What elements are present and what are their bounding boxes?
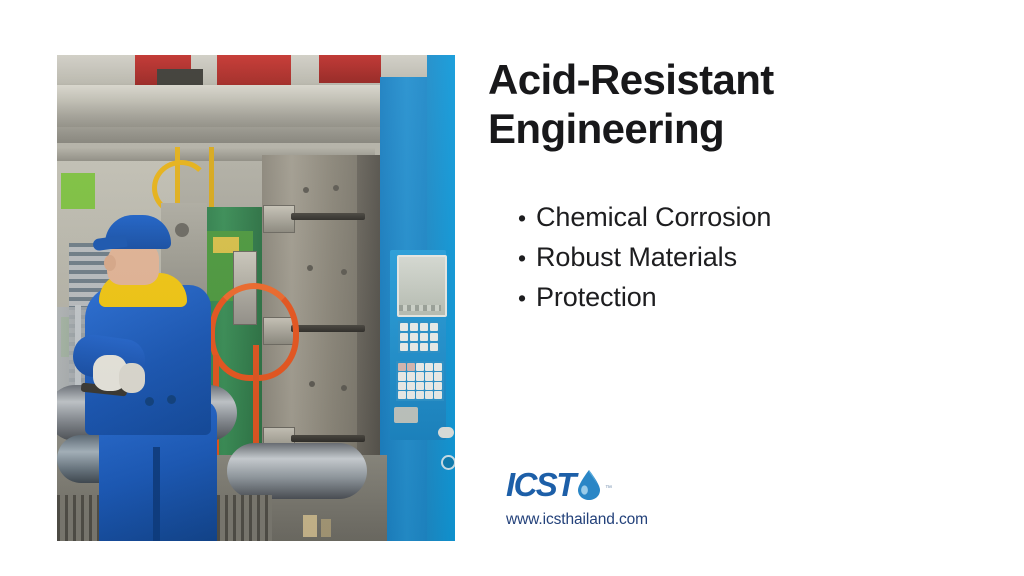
content-column: Acid-Resistant Engineering • Chemical Co… [488, 55, 988, 541]
bullet-dot-icon: • [518, 247, 536, 270]
keypad-key [398, 372, 406, 380]
keypad-key [410, 333, 418, 341]
keypad-key [407, 382, 415, 390]
worker-leg-seam [153, 447, 160, 541]
keypad-key [407, 391, 415, 399]
keypad-key [400, 333, 408, 341]
water-droplet-icon [576, 469, 602, 501]
keypad-key [430, 323, 438, 331]
tie-bar [291, 213, 365, 220]
tie-bar [291, 325, 365, 332]
keypad-key [425, 372, 433, 380]
keypad-key [425, 363, 433, 371]
keypad-key [416, 363, 424, 371]
floor-debris [321, 519, 331, 537]
keypad-key [416, 372, 424, 380]
brand-logo-block[interactable]: ICST ™ www.icsthailand.com [506, 465, 726, 529]
page-title: Acid-Resistant Engineering [488, 55, 848, 153]
logo-mark: ICST ™ [506, 465, 624, 505]
indicator-light [441, 455, 455, 470]
control-dial [175, 223, 189, 237]
keypad-key [425, 382, 433, 390]
overall-button [145, 397, 154, 406]
red-ceiling-panel [319, 55, 381, 83]
trademark-icon: ™ [605, 485, 612, 492]
keypad-key [420, 343, 428, 351]
list-item-label: Robust Materials [536, 237, 737, 277]
keypad-key [410, 323, 418, 331]
hmi-keypad-upper [398, 321, 440, 353]
title-line-1: Acid-Resistant [488, 55, 848, 104]
keypad-key [434, 382, 442, 390]
worker-glove [119, 363, 145, 393]
hmi-keypad-lower [396, 361, 444, 401]
floor-debris [303, 515, 317, 537]
overall-button [167, 395, 176, 404]
bullet-dot-icon: • [518, 287, 536, 310]
machine-badge [394, 407, 418, 423]
list-item-label: Protection [536, 277, 657, 317]
keypad-key [400, 323, 408, 331]
keypad-key [398, 363, 406, 371]
keypad-key [398, 382, 406, 390]
hmi-softkey-strip [399, 305, 441, 311]
keypad-key [420, 333, 428, 341]
bolt-hole [333, 185, 339, 191]
keypad-key [407, 372, 415, 380]
keypad-key [420, 323, 428, 331]
logo-wordmark: ICST [506, 465, 575, 505]
green-equipment-box [61, 173, 95, 209]
title-line-2: Engineering [488, 104, 848, 153]
keypad-key [425, 391, 433, 399]
bolt-hole [341, 269, 347, 275]
keypad-key [434, 391, 442, 399]
bolt-hole [307, 265, 313, 271]
keypad-key [407, 363, 415, 371]
keypad-key [416, 391, 424, 399]
list-item: • Robust Materials [518, 237, 771, 277]
steel-roller [227, 443, 367, 499]
worker-ear [104, 255, 116, 271]
slide-canvas: Acid-Resistant Engineering • Chemical Co… [0, 0, 1024, 576]
bolt-hole [341, 385, 347, 391]
keypad-key [400, 343, 408, 351]
keypad-key [398, 391, 406, 399]
red-ceiling-panel [217, 55, 291, 89]
list-item-label: Chemical Corrosion [536, 197, 771, 237]
bullet-dot-icon: • [518, 207, 536, 230]
keypad-key [434, 363, 442, 371]
machinery-photo [57, 55, 455, 541]
bolt-hole [303, 187, 309, 193]
list-item: • Chemical Corrosion [518, 197, 771, 237]
keypad-key [434, 372, 442, 380]
photo-scene [57, 55, 455, 541]
keypad-key [416, 382, 424, 390]
tie-bar [291, 435, 365, 442]
panel-handle [438, 427, 454, 438]
feature-bullet-list: • Chemical Corrosion • Robust Materials … [518, 197, 771, 318]
bolt-hole [309, 381, 315, 387]
list-item: • Protection [518, 277, 771, 317]
keypad-key [430, 333, 438, 341]
website-url[interactable]: www.icsthailand.com [506, 511, 726, 529]
keypad-key [410, 343, 418, 351]
keypad-key [430, 343, 438, 351]
mould-clamp [263, 205, 295, 233]
